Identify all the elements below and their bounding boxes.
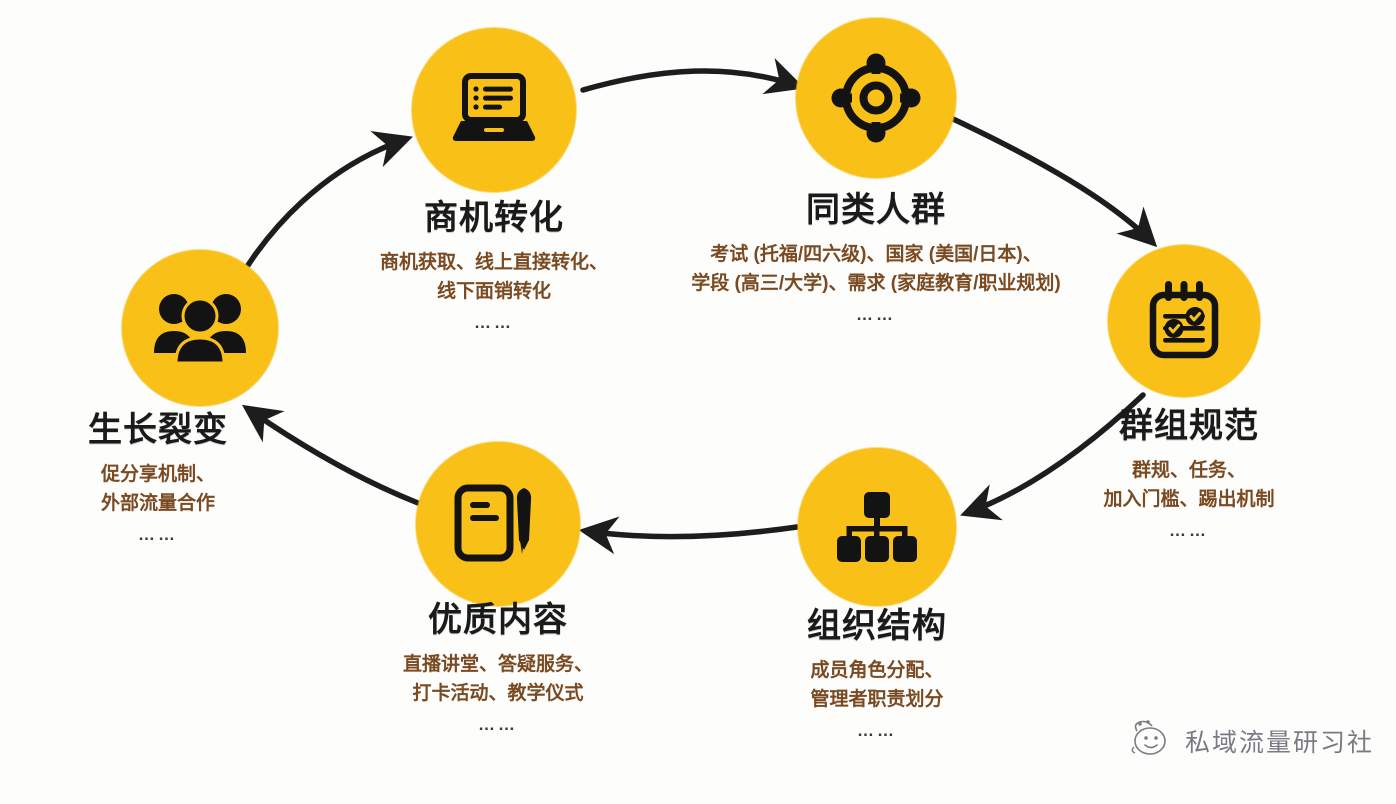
caption-business-conversion: 商机转化 商机获取、线上直接转化、 线下面销转化 ……: [344, 200, 644, 333]
target-icon: [830, 52, 922, 144]
checklist-notepad-icon: [1143, 279, 1225, 363]
watermark: 私域流量研习社: [1129, 717, 1374, 764]
node-title: 生长裂变: [8, 412, 308, 449]
bubble-group-rules[interactable]: [1108, 245, 1260, 397]
diagram-canvas: 商机转化 商机获取、线上直接转化、 线下面销转化 ……: [0, 0, 1396, 804]
watermark-text: 私域流量研习社: [1185, 723, 1374, 759]
node-ellipsis: ……: [348, 715, 648, 735]
node-desc: 成员角色分配、 管理者职责划分: [727, 657, 1027, 714]
node-ellipsis: ……: [8, 525, 308, 545]
arrow-conversion-to-audience: [583, 71, 798, 90]
laptop-icon: [451, 71, 537, 149]
node-ellipsis: ……: [727, 721, 1027, 741]
caption-group-rules: 群组规范 群规、任务、 加入门槛、踢出机制 ……: [1044, 408, 1334, 541]
bubble-org-structure[interactable]: [798, 448, 956, 606]
caption-growth-fission: 生长裂变 促分享机制、 外部流量合作 ……: [8, 412, 308, 545]
bubble-business-conversion[interactable]: [412, 28, 576, 192]
caption-org-structure: 组织结构 成员角色分配、 管理者职责划分 ……: [727, 608, 1027, 741]
document-pen-icon: [454, 482, 542, 566]
bubble-quality-content[interactable]: [416, 442, 580, 606]
caption-similar-audience: 同类人群 考试 (托福/四六级)、国家 (美国/日本)、 学段 (高三/大学)、…: [646, 192, 1106, 325]
node-title: 优质内容: [348, 602, 648, 639]
node-desc: 商机获取、线上直接转化、 线下面销转化: [344, 249, 644, 306]
caption-quality-content: 优质内容 直播讲堂、答疑服务、 打卡活动、教学仪式 ……: [348, 602, 648, 735]
bubble-growth-fission[interactable]: [122, 250, 278, 406]
smiley-face-icon: [1129, 717, 1175, 764]
node-ellipsis: ……: [1044, 521, 1334, 541]
node-title: 群组规范: [1044, 408, 1334, 445]
bubble-similar-audience[interactable]: [796, 18, 956, 178]
node-desc: 考试 (托福/四六级)、国家 (美国/日本)、 学段 (高三/大学)、需求 (家…: [646, 241, 1106, 298]
node-title: 同类人群: [646, 192, 1106, 229]
node-ellipsis: ……: [646, 305, 1106, 325]
node-title: 组织结构: [727, 608, 1027, 645]
node-ellipsis: ……: [344, 313, 644, 333]
arrow-org-to-content: [586, 527, 797, 537]
node-desc: 促分享机制、 外部流量合作: [8, 461, 308, 518]
people-group-icon: [152, 291, 248, 365]
node-desc: 直播讲堂、答疑服务、 打卡活动、教学仪式: [348, 651, 648, 708]
node-title: 商机转化: [344, 200, 644, 237]
node-desc: 群规、任务、 加入门槛、踢出机制: [1044, 457, 1334, 514]
org-chart-icon: [834, 490, 920, 564]
